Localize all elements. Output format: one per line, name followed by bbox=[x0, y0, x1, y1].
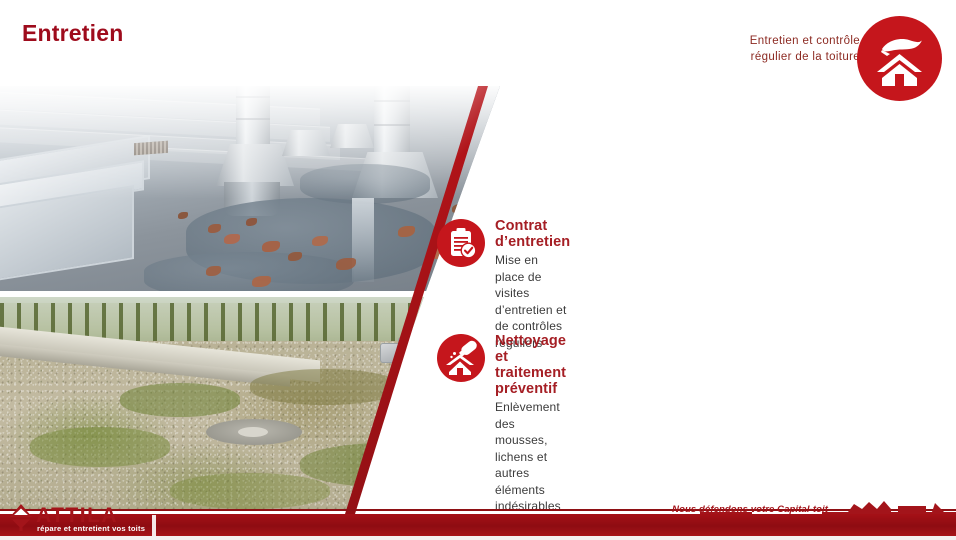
photo-panel bbox=[0, 86, 500, 510]
block-heading: Contrat d’entretien bbox=[495, 218, 570, 250]
attila-logo: ATTILA répare et entretient vos toits bbox=[8, 500, 154, 534]
hand-over-house-icon bbox=[857, 16, 942, 101]
photo-flat-roof-with-ducts-and-leaves bbox=[0, 86, 500, 291]
footer-bar-shadow bbox=[0, 536, 956, 540]
footer-slogan: Nous défendons votre Capital-toit bbox=[672, 504, 828, 515]
clipboard-check-icon bbox=[437, 219, 485, 267]
photo-mossy-gravel-roof bbox=[0, 297, 500, 510]
svg-text:répare et entretient vos toits: répare et entretient vos toits bbox=[37, 524, 145, 533]
block-line: Enlèvement des mousses, lichens et autre… bbox=[495, 399, 566, 515]
footer-logo-separator bbox=[152, 515, 156, 536]
slide: Entretien Entretien et contrôle régulier… bbox=[0, 0, 956, 540]
content-block-text: Contrat d’entretien Mise en place de vis… bbox=[495, 218, 570, 351]
header-note: Entretien et contrôle régulier de la toi… bbox=[700, 33, 860, 65]
house-spray-icon bbox=[437, 334, 485, 382]
block-heading: Nettoyage et traitement préventif bbox=[495, 333, 566, 397]
page-title: Entretien bbox=[22, 20, 123, 47]
header-note-line-2: régulier de la toiture bbox=[700, 49, 860, 65]
roofline-silhouette-icon bbox=[838, 496, 956, 523]
header-note-line-1: Entretien et contrôle bbox=[700, 33, 860, 49]
